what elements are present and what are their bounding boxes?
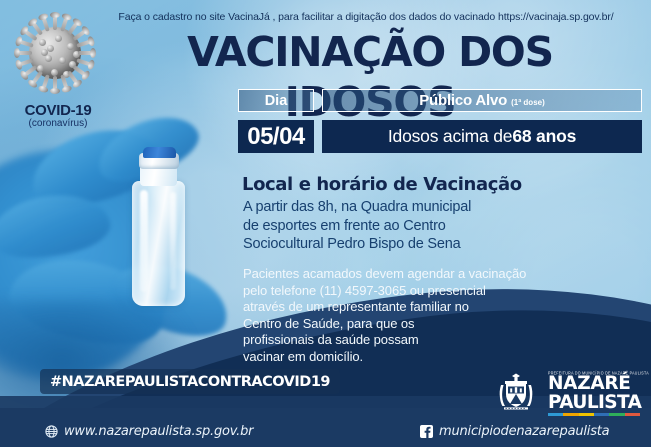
brand-color-bar — [594, 413, 609, 416]
vaccination-poster: Faça o cadastro no site VacinaJá , para … — [0, 0, 651, 447]
brand-color-bar — [548, 413, 563, 416]
target-value-emphasis: 68 anos — [512, 126, 576, 147]
municipality-brand: PREFEITURA DO MUNICÍPIO DE NAZARÉ PAULIS… — [492, 372, 647, 414]
brand-text-block: PREFEITURA DO MUNICÍPIO DE NAZARÉ PAULIS… — [548, 371, 649, 412]
facebook-handle: municipiodenazarepaulista — [439, 424, 609, 439]
virus-spike — [67, 70, 79, 84]
note-line-1: Pacientes acamados devem agendar a vacin… — [243, 266, 583, 283]
virus-spike — [76, 58, 92, 66]
brand-color-bar — [609, 413, 624, 416]
registration-note: Faça o cadastro no site VacinaJá , para … — [88, 11, 644, 24]
homebound-note: Pacientes acamados devem agendar a vacin… — [243, 266, 583, 366]
location-section-title: Local e horário de Vacinação — [242, 174, 522, 195]
virus-spike — [78, 51, 93, 55]
date-value-box: 05/04 — [238, 120, 314, 153]
virus-protein-bump — [59, 57, 66, 64]
target-header-sublabel: (1ª dose) — [511, 98, 545, 107]
virus-protein-bump — [41, 49, 48, 56]
note-line-4: Centro de Saúde, para que os — [243, 316, 583, 333]
brand-color-bars — [548, 413, 640, 416]
target-header-label: Público Alvo — [419, 92, 507, 109]
covid-sublabel: (coronavírus) — [12, 118, 104, 129]
brand-color-bar — [579, 413, 594, 416]
facebook-icon — [420, 425, 433, 438]
coat-of-arms-icon — [492, 372, 540, 412]
virus-spike — [53, 76, 57, 91]
website-link[interactable]: www.nazarepaulista.sp.gov.br — [45, 424, 253, 439]
virus-spike — [31, 70, 43, 84]
brand-name-line-2: PAULISTA — [548, 393, 649, 412]
target-header-box: Público Alvo (1ª dose) — [322, 89, 642, 112]
note-line-5: profissionais da saúde possam — [243, 332, 583, 349]
note-line-6: vacinar em domicílio. — [243, 349, 583, 366]
virus-protein-bump — [67, 43, 74, 50]
virus-spike — [76, 39, 92, 47]
date-value: 05/04 — [247, 123, 305, 151]
brand-color-bar — [563, 413, 578, 416]
virus-protein-bump — [51, 69, 58, 76]
facebook-link[interactable]: municipiodenazarepaulista — [420, 424, 609, 439]
vial-highlight — [140, 190, 148, 292]
location-line-3: Sociocultural Pedro Bispo de Sena — [243, 235, 573, 254]
covid-label: COVID-19 — [12, 102, 104, 119]
virus-protein-bump — [45, 55, 52, 62]
hashtag-bar: #NAZAREPAULISTACONTRACOVID19 — [40, 369, 340, 394]
virus-spike — [17, 51, 32, 55]
coronavirus-icon — [16, 14, 94, 92]
page-title: VACINAÇÃO DOS IDOSOS — [96, 27, 644, 127]
note-line-2: pelo telefone (11) 4597-3065 ou presenci… — [243, 283, 583, 300]
day-header-label: Dia — [265, 93, 288, 109]
target-value-prefix: Idosos acima de — [388, 126, 512, 147]
virus-protein-bump — [39, 39, 46, 46]
virus-spike — [72, 65, 86, 77]
note-line-3: através de um representante familiar no — [243, 299, 583, 316]
virus-spike — [53, 15, 57, 30]
vial-highlight — [170, 192, 176, 290]
brand-name-line-1: NAZARÉ — [548, 375, 649, 393]
target-value-box: Idosos acima de 68 anos — [322, 120, 642, 153]
location-section-body: A partir das 8h, na Quadra municipal de … — [243, 198, 573, 254]
location-line-1: A partir das 8h, na Quadra municipal — [243, 198, 573, 217]
virus-protein-bump — [47, 45, 54, 52]
virus-protein-bump — [55, 35, 62, 42]
brand-color-bar — [625, 413, 640, 416]
virus-spike — [72, 29, 86, 41]
day-header-box: Dia — [238, 89, 314, 112]
vaccine-vial-top-seal — [143, 147, 176, 158]
location-line-2: de esportes em frente ao Centro — [243, 217, 573, 236]
virus-core — [29, 27, 81, 79]
brand-kicker: PREFEITURA DO MUNICÍPIO DE NAZARÉ PAULIS… — [548, 371, 649, 376]
website-url: www.nazarepaulista.sp.gov.br — [64, 424, 253, 439]
globe-icon — [45, 425, 58, 438]
hashtag-text: #NAZAREPAULISTACONTRACOVID19 — [50, 374, 330, 390]
virus-spike — [41, 74, 49, 90]
